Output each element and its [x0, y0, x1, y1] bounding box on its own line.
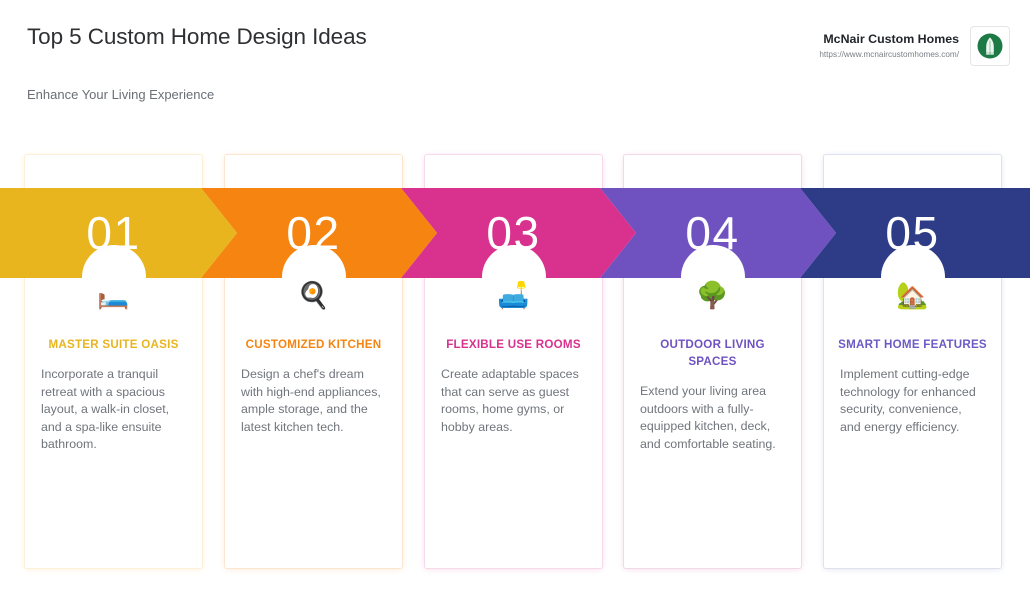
house-with-garden-icon: 🏡: [838, 280, 987, 314]
brand-name: McNair Custom Homes: [819, 31, 959, 47]
card-description: Create adaptable spaces that can serve a…: [439, 366, 588, 436]
idea-card-04[interactable]: 🌳OUTDOOR LIVING SPACESExtend your living…: [624, 155, 801, 568]
bed-icon: 🛏️: [39, 280, 188, 314]
card-title: SMART HOME FEATURES: [838, 336, 987, 353]
tree-icon: 🌳: [638, 280, 787, 314]
card-content: 🛏️MASTER SUITE OASISIncorporate a tranqu…: [25, 280, 202, 454]
header: Top 5 Custom Home Design Ideas Enhance Y…: [0, 0, 1030, 150]
card-description: Implement cutting-edge technology for en…: [838, 366, 987, 436]
card-description: Extend your living area outdoors with a …: [638, 383, 787, 453]
card-title: OUTDOOR LIVING SPACES: [638, 336, 787, 370]
cooking-pan-icon: 🍳: [239, 280, 388, 314]
idea-card-02[interactable]: 🍳CUSTOMIZED KITCHENDesign a chef's dream…: [225, 155, 402, 568]
card-content: 🛋️FLEXIBLE USE ROOMSCreate adaptable spa…: [425, 280, 602, 436]
card-content: 🏡SMART HOME FEATURESImplement cutting-ed…: [824, 280, 1001, 436]
brand-url[interactable]: https://www.mcnaircustomhomes.com/: [819, 48, 959, 61]
page-subtitle: Enhance Your Living Experience: [27, 87, 214, 102]
idea-card-03[interactable]: 🛋️FLEXIBLE USE ROOMSCreate adaptable spa…: [425, 155, 602, 568]
card-title: MASTER SUITE OASIS: [39, 336, 188, 353]
brand-text: McNair Custom Homes https://www.mcnaircu…: [819, 31, 959, 61]
brand-logo[interactable]: [970, 26, 1010, 66]
cards-container: 🛏️MASTER SUITE OASISIncorporate a tranqu…: [0, 155, 1030, 570]
card-title: CUSTOMIZED KITCHEN: [239, 336, 388, 353]
card-description: Design a chef's dream with high-end appl…: [239, 366, 388, 436]
brand-block: McNair Custom Homes https://www.mcnaircu…: [819, 26, 1010, 66]
idea-card-01[interactable]: 🛏️MASTER SUITE OASISIncorporate a tranqu…: [25, 155, 202, 568]
page-title: Top 5 Custom Home Design Ideas: [27, 20, 447, 53]
card-title: FLEXIBLE USE ROOMS: [439, 336, 588, 353]
card-description: Incorporate a tranquil retreat with a sp…: [39, 366, 188, 454]
couch-and-lamp-icon: 🛋️: [439, 280, 588, 314]
idea-card-05[interactable]: 🏡SMART HOME FEATURESImplement cutting-ed…: [824, 155, 1001, 568]
card-content: 🌳OUTDOOR LIVING SPACESExtend your living…: [624, 280, 801, 453]
card-content: 🍳CUSTOMIZED KITCHENDesign a chef's dream…: [225, 280, 402, 436]
green-circle-house-logo-icon: [976, 32, 1004, 60]
